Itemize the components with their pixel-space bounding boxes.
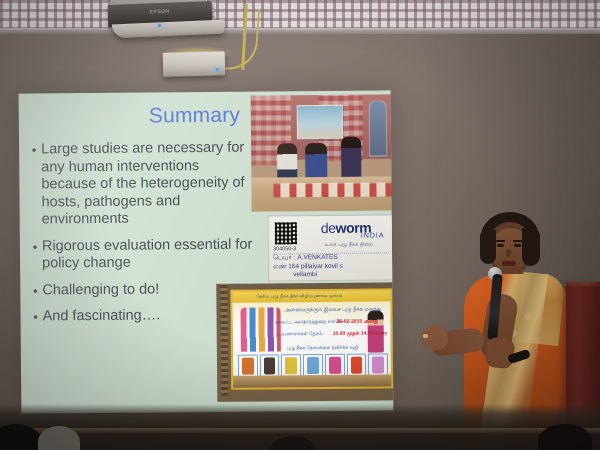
banner-bottom-bar: [233, 374, 391, 387]
water-icon: [307, 357, 319, 374]
card-serial-number: 304050-3: [273, 246, 296, 252]
seated-person: [341, 137, 361, 181]
bullet-text: Challenging to do!: [42, 281, 159, 300]
slide-image-field-interview: [251, 94, 392, 211]
ceiling-speaker-unit: [163, 51, 226, 77]
slide-image-tamil-banner: தேசிய புழு நீக்க தின விழிப்புணர்வு முகாம…: [216, 282, 393, 402]
audience-desk-edge: [0, 428, 600, 433]
banner-pole: [220, 284, 228, 396]
mouth: [502, 261, 516, 266]
banner-top-bar-text: தேசிய புழு நீக்க தின விழிப்புணர்வு முகாம…: [256, 293, 342, 300]
banner-sheet: தேசிய புழு நீக்க தின விழிப்புணர்வு முகாம…: [230, 288, 393, 389]
banner-subline-3: புழு நீக்க நோய்களை தவிர்க்க வழி: [287, 345, 359, 352]
banner-date: 26-02-2015 அன்று: [337, 319, 379, 325]
banner-crowd-illustration: [240, 307, 280, 351]
eyebrow-left: [496, 240, 505, 242]
nail-clipper-icon: [372, 356, 384, 373]
bullet-text: Rigorous evaluation essential for policy…: [42, 236, 256, 273]
slide-title: Summary: [149, 104, 240, 129]
fruit-icon: [351, 357, 363, 374]
covered-food-icon: [329, 357, 341, 374]
qr-code-icon: [275, 222, 297, 244]
banner-headline: அனைவருக்கும் இலவச புழு நீக்க மருந்து: [284, 306, 381, 313]
bullet-marker-icon: •: [27, 141, 41, 158]
card-tamil-subtitle: உலக புழு நீக்க தினம்: [325, 242, 373, 248]
hand-gripping-microphone: [485, 337, 516, 370]
bullet-marker-icon: •: [28, 308, 42, 325]
toilet-icon: [242, 358, 254, 375]
card-brand-country: INDIA: [361, 232, 385, 239]
list-item: • Large studies are necessary for any hu…: [27, 140, 256, 229]
slide-image-deworm-card: 304050-3 deworm INDIA உலக புழு நீக்க தின…: [268, 214, 394, 281]
bullet-text: Large studies are necessary for any huma…: [41, 140, 256, 229]
banner-top-bar: தேசிய புழு நீக்க தின விழிப்புணர்வு முகாம…: [232, 290, 390, 302]
banner-subline-2: பயனாளர்கள் நேரம் :: [279, 331, 325, 337]
doorway: [369, 100, 387, 156]
hair-right-side: [522, 228, 540, 266]
lecture-hall-photo: EPSON Summary • Large studies are necess…: [0, 0, 600, 450]
list-item: • Rigorous evaluation essential for poli…: [28, 236, 256, 273]
perforated-ceiling-panel: [0, 0, 600, 30]
wall-poster: [297, 105, 343, 139]
hair-left-side: [480, 230, 496, 264]
eye-left: [497, 244, 504, 247]
speaker-status-led-icon: [216, 68, 219, 71]
bullet-marker-icon: •: [28, 282, 42, 299]
floor-mat: [251, 176, 391, 211]
footwear-icon: [264, 357, 276, 374]
projector-power-led-icon: [158, 24, 161, 27]
ring: [423, 334, 428, 338]
card-handwritten-name: பெயர் : A.VENKATES: [273, 254, 338, 263]
rug-border-band: [273, 182, 391, 197]
audience-head: [538, 424, 592, 450]
eye-right: [514, 244, 521, 247]
card-handwritten-village: vellambi: [293, 271, 317, 278]
bullet-marker-icon: •: [28, 238, 42, 255]
eyebrow-right: [513, 240, 522, 242]
projector-brand-label: EPSON: [150, 9, 170, 16]
handwash-icon: [285, 357, 297, 374]
banner-time: 10.00 முதல் 14.00 வரை: [333, 330, 387, 336]
bullet-text: And fascinating….: [42, 307, 160, 326]
nose: [506, 249, 511, 257]
audience-head: [38, 426, 80, 450]
projected-slide: Summary • Large studies are necessary fo…: [19, 90, 394, 413]
